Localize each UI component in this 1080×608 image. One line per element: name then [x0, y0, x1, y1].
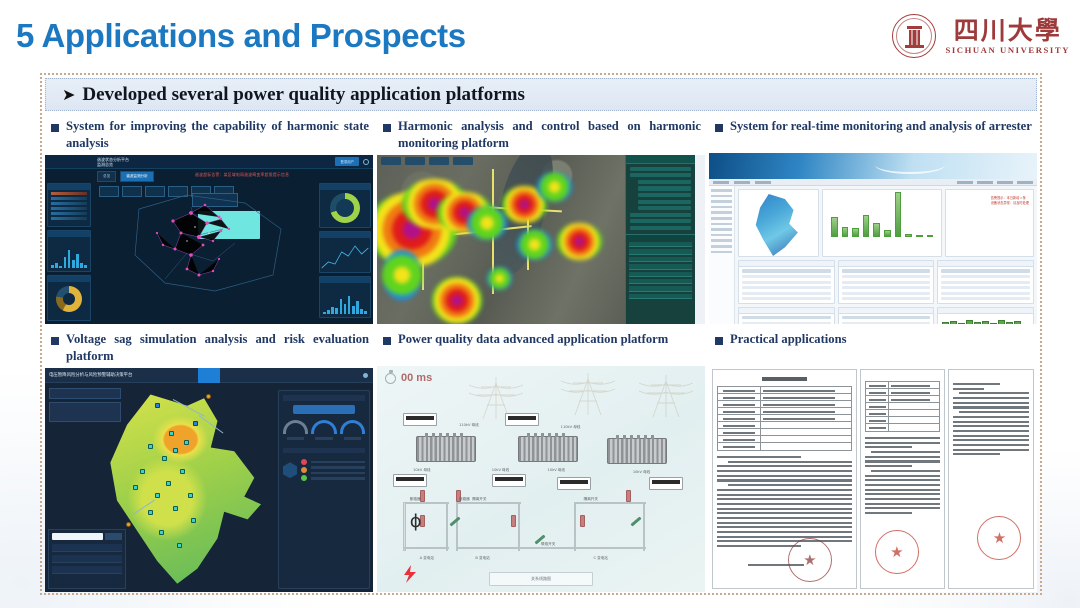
- card-header: [320, 184, 370, 190]
- search-button[interactable]: [105, 533, 122, 540]
- acceptance-letter-document[interactable]: [948, 369, 1034, 589]
- app-menu-bar[interactable]: [709, 179, 1037, 186]
- tree-node: [711, 223, 732, 226]
- table-row: [842, 281, 931, 284]
- content-frame: ➤ Developed several power quality applic…: [40, 73, 1042, 595]
- panel-header: [283, 395, 365, 401]
- voltage-label: 110kV 母线: [561, 425, 581, 430]
- gauge-card: [319, 183, 371, 228]
- map-marker[interactable]: [173, 506, 178, 511]
- gauge-chart: [330, 193, 360, 223]
- voltage-label: 110kV 母线: [459, 423, 479, 428]
- seal-icon: [892, 14, 936, 58]
- heat-blob: [487, 267, 512, 291]
- toolbar-button: [429, 157, 449, 165]
- line-chart-svg: [320, 238, 370, 272]
- circuit-breaker[interactable]: [626, 490, 631, 502]
- form-row: [866, 403, 940, 410]
- card-header: [48, 184, 90, 190]
- screenshot-dark-gis-dashboard[interactable]: 电压暂降风险分析与风险预警辅助决策平台: [45, 368, 373, 592]
- menu-right-group[interactable]: [957, 181, 1037, 184]
- gauge-arc: [311, 420, 336, 434]
- map-toolbar[interactable]: [381, 157, 473, 165]
- tree-node: [711, 206, 732, 209]
- tree-node: [711, 234, 732, 237]
- tree-node: [711, 228, 732, 231]
- station-label: C 变电站: [593, 556, 607, 561]
- bar-chart: [823, 190, 941, 242]
- menu-item: [713, 181, 729, 184]
- bar-chart: [51, 244, 87, 268]
- official-stamp-icon: [788, 538, 832, 582]
- table-row[interactable]: [629, 257, 692, 262]
- nav-tab-evaluation[interactable]: [252, 368, 274, 383]
- card-body: [320, 283, 370, 317]
- map-marker[interactable]: [191, 518, 196, 523]
- radar-card: [47, 275, 91, 321]
- form-row: [718, 422, 851, 429]
- logo-chinese-name: 四川大學: [945, 18, 1070, 43]
- platform-grid: System for improving the capability of h…: [45, 115, 1037, 592]
- caption-harmonic-state-analysis: System for improving the capability of h…: [45, 115, 373, 155]
- legend-item[interactable]: [630, 167, 691, 171]
- table-row: [941, 292, 1030, 295]
- circuit-breaker[interactable]: [511, 515, 516, 527]
- measurement-display: [557, 477, 591, 490]
- device-label: 隔离开关: [584, 497, 598, 502]
- list-item[interactable]: [51, 202, 87, 205]
- table-row: [941, 269, 1030, 272]
- nav-tab-monitor[interactable]: [279, 368, 301, 383]
- result-row[interactable]: [52, 544, 122, 552]
- voltage-label: 10kV 母线: [413, 468, 430, 473]
- light-column: [301, 457, 307, 483]
- gauge-label: [344, 437, 361, 440]
- bus-bar: [574, 547, 646, 549]
- bar-chart-widget[interactable]: [822, 189, 942, 257]
- map-marker[interactable]: [162, 456, 167, 461]
- measurement-display: [505, 413, 539, 426]
- timer-value: 00 ms: [401, 372, 432, 384]
- square-bullet-icon: [51, 124, 59, 132]
- tree-node: [711, 239, 732, 242]
- trend-card: [319, 231, 371, 273]
- transmission-tower-icon: [639, 373, 693, 419]
- list-item[interactable]: [51, 217, 87, 220]
- table-row: [742, 269, 831, 272]
- gauge-label: [287, 437, 304, 440]
- heat-blob: [537, 172, 572, 202]
- table-widget[interactable]: [937, 260, 1034, 304]
- legend-item[interactable]: [630, 213, 691, 217]
- table-header: [739, 308, 834, 314]
- table-row: [842, 292, 931, 295]
- status-light-red: [301, 459, 307, 465]
- table-row[interactable]: [629, 279, 692, 284]
- card-body: [48, 192, 90, 226]
- form-row: [718, 401, 851, 408]
- tab-overview[interactable]: 总览: [97, 171, 116, 182]
- right-info-panel[interactable]: [278, 390, 370, 589]
- logo-text-block: 四川大學 SICHUAN UNIVERSITY: [945, 18, 1070, 55]
- map-marker[interactable]: [155, 493, 160, 498]
- square-bullet-icon: [715, 337, 723, 345]
- tree-node: [711, 217, 732, 220]
- legend-subitem[interactable]: [638, 180, 691, 184]
- map-marker[interactable]: [188, 493, 193, 498]
- screenshot-one-line-grid-diagram[interactable]: 00 ms: [377, 366, 705, 592]
- card-body: [320, 238, 370, 272]
- table-widget[interactable]: [738, 307, 835, 324]
- gauge-row: [283, 420, 365, 440]
- square-bullet-icon: [383, 124, 391, 132]
- table-row: [941, 281, 1030, 284]
- histogram-card: [319, 276, 371, 318]
- map-marker[interactable]: [184, 440, 189, 445]
- middle-tables-row: [738, 260, 1034, 304]
- measurement-display: [492, 474, 526, 487]
- green-bar-chart-widget[interactable]: [937, 307, 1034, 324]
- tree-node: [711, 200, 732, 203]
- logo-english-name: SICHUAN UNIVERSITY: [945, 46, 1070, 55]
- table-row: [742, 292, 831, 295]
- header-swoosh-decoration: [875, 156, 945, 174]
- result-row[interactable]: [52, 566, 122, 574]
- table-row[interactable]: [629, 272, 692, 277]
- list-item[interactable]: [51, 207, 87, 210]
- user-avatar-icon[interactable]: [363, 373, 368, 378]
- alarm-list-card: [47, 183, 91, 227]
- legend-header: [626, 155, 695, 164]
- bar-chart: [938, 314, 1033, 324]
- caption-voltage-sag-platform: Voltage sag simulation analysis and risk…: [45, 328, 373, 368]
- cell-arrester-monitoring: System for real-time monitoring and anal…: [709, 115, 1037, 324]
- circuit-breaker[interactable]: [580, 515, 585, 527]
- table-header: [839, 261, 934, 267]
- status-light-group: [283, 457, 365, 483]
- card-body: [48, 286, 90, 320]
- device-label: 联络开关: [541, 542, 555, 547]
- table-row[interactable]: [629, 294, 692, 299]
- document-title-bar: [762, 377, 808, 381]
- table-row[interactable]: [629, 264, 692, 269]
- app-brand-title: 电压暂降风险分析与风险预警辅助决策平台: [49, 372, 132, 378]
- bus-bar: [518, 502, 520, 552]
- card-body: [320, 193, 370, 227]
- form-row: [866, 396, 940, 403]
- table-row: [941, 275, 1030, 278]
- caption-arrester-monitoring: System for real-time monitoring and anal…: [709, 115, 1037, 153]
- table-row: [742, 297, 831, 300]
- official-stamp-icon: [977, 516, 1021, 560]
- cell-practical-applications: Practical applications: [709, 328, 1037, 592]
- form-row: [866, 417, 940, 424]
- diagram-caption-box: 关系线路图: [489, 572, 594, 586]
- toolbar-button: [405, 157, 425, 165]
- voltage-label: 10kV 母线: [492, 468, 509, 473]
- table-row: [941, 297, 1030, 300]
- bar-chart-card: [47, 230, 91, 272]
- panel-subheader: [283, 448, 365, 453]
- menu-item: [977, 181, 993, 184]
- histogram-chart: [323, 290, 367, 314]
- heat-blob: [382, 250, 422, 301]
- table-header: [739, 261, 834, 267]
- form-row: [718, 408, 851, 415]
- list-item[interactable]: [51, 197, 87, 200]
- card-header: [48, 276, 90, 282]
- table-row: [842, 297, 931, 300]
- cell-power-quality-advanced-platform: Power quality data advanced application …: [377, 328, 705, 592]
- map-marker[interactable]: [148, 444, 153, 449]
- voltage-label: 10kV 母线: [548, 468, 565, 473]
- dashboard-tabs[interactable]: 总览 谐波监测分析: [97, 171, 154, 182]
- toolbar-button: [381, 157, 401, 165]
- form-row: [718, 415, 851, 422]
- gauge-arc: [340, 420, 365, 434]
- gear-icon[interactable]: [363, 159, 369, 165]
- table-row: [742, 316, 831, 319]
- donut-chart: [56, 286, 82, 312]
- table-row: [742, 322, 831, 324]
- primary-action-button[interactable]: [293, 405, 355, 414]
- document-form-table: [865, 381, 941, 432]
- gauge-widget: [311, 420, 336, 440]
- application-certificate-document[interactable]: [712, 369, 857, 589]
- test-report-document[interactable]: [860, 369, 946, 589]
- region-map-widget[interactable]: [738, 189, 819, 257]
- menu-item: [997, 181, 1013, 184]
- map-marker[interactable]: [140, 469, 145, 474]
- cell-voltage-sag-platform: Voltage sag simulation analysis and risk…: [45, 328, 373, 592]
- official-stamp-icon: [875, 530, 919, 574]
- table-widget[interactable]: [738, 260, 835, 304]
- square-bullet-icon: [715, 124, 723, 132]
- table-row: [742, 281, 831, 284]
- menu-item: [1017, 181, 1033, 184]
- form-row: [718, 436, 851, 443]
- table-row[interactable]: [629, 286, 692, 291]
- tree-node: [711, 251, 732, 254]
- stopwatch-icon: [385, 373, 396, 384]
- map-marker[interactable]: [133, 485, 138, 490]
- toolbar-button: [453, 157, 473, 165]
- station-label: A 变电站: [420, 556, 434, 561]
- form-row: [866, 410, 940, 417]
- status-table: [311, 458, 365, 483]
- arrow-bullet-icon: ➤: [62, 87, 75, 103]
- table-row: [842, 275, 931, 278]
- status-light-green: [301, 475, 307, 481]
- caption-practical-applications: Practical applications: [709, 328, 1037, 366]
- gauge-widget: [340, 420, 365, 440]
- data-table-header: [626, 234, 695, 240]
- nav-tab-active[interactable]: [198, 368, 220, 383]
- table-row[interactable]: [629, 249, 692, 254]
- tree-node: [711, 245, 732, 248]
- gate-tower-icon: [907, 26, 922, 47]
- table-row: [742, 286, 831, 289]
- screenshot-light-web-dashboard[interactable]: 告警提示：本日新增 2 条设备状态异常：请及时处理: [709, 153, 1037, 324]
- screenshot-dark-network-dashboard[interactable]: 谐波状态分析平台监测总览 登录用户 总览 谐波监测分析 谐波超标告警：某区域电网…: [45, 155, 373, 324]
- caption-text: Voltage sag simulation analysis and risk…: [66, 331, 369, 364]
- heat-blob: [517, 229, 552, 259]
- legend-item[interactable]: [630, 226, 691, 230]
- device-label: 隔离开关: [472, 497, 486, 502]
- page-title: 5 Applications and Prospects: [16, 17, 466, 55]
- square-bullet-icon: [51, 337, 59, 345]
- simulation-timer: 00 ms: [385, 372, 432, 384]
- caption-text: Practical applications: [730, 331, 846, 348]
- map-marker[interactable]: [206, 394, 211, 399]
- transformer-icon: [416, 436, 476, 462]
- transformer-icon: [607, 438, 667, 464]
- university-logo: 四川大學 SICHUAN UNIVERSITY: [892, 14, 1070, 58]
- diagram-caption-text: 关系线路图: [490, 573, 593, 585]
- search-input[interactable]: [52, 533, 103, 540]
- nav-tab-report[interactable]: [306, 368, 328, 383]
- heat-blob: [557, 223, 602, 260]
- nav-tab-analysis[interactable]: [225, 368, 247, 383]
- menu-item: [755, 181, 771, 184]
- result-row[interactable]: [52, 555, 122, 563]
- table-widget[interactable]: [838, 307, 935, 324]
- station-label: B 变电站: [475, 556, 489, 561]
- caption-text: Power quality data advanced application …: [398, 331, 668, 348]
- bus-bar: [456, 502, 458, 552]
- bus-bar: [446, 502, 448, 552]
- table-row: [742, 275, 831, 278]
- legend-item[interactable]: [630, 219, 691, 223]
- measurement-display: [403, 413, 437, 426]
- map-marker[interactable]: [193, 421, 198, 426]
- nav-tab-settings[interactable]: [333, 368, 355, 383]
- network-graph-svg: [95, 183, 315, 303]
- section-banner-text: Developed several power quality applicat…: [82, 84, 524, 106]
- form-row: [866, 424, 940, 431]
- table-header: [839, 308, 934, 314]
- table-widget[interactable]: [838, 260, 935, 304]
- tab-harmonic-detail[interactable]: 谐波监测分析: [120, 171, 154, 182]
- nav-tab-home[interactable]: [171, 368, 193, 383]
- map-marker[interactable]: [173, 448, 178, 453]
- map-marker[interactable]: [177, 543, 182, 548]
- menu-item: [734, 181, 750, 184]
- table-row: [842, 269, 931, 272]
- measurement-display: [649, 477, 683, 490]
- voltage-label: 10kV 母线: [633, 470, 650, 475]
- satellite-imagery[interactable]: [377, 155, 627, 324]
- heat-blob: [432, 277, 482, 324]
- list-item[interactable]: [51, 212, 87, 215]
- user-pill[interactable]: 登录用户: [335, 157, 359, 166]
- notice-widget[interactable]: 告警提示：本日新增 2 条设备状态异常：请及时处理: [945, 189, 1034, 257]
- app-nav-bar[interactable]: 电压暂降风险分析与风险预警辅助决策平台: [45, 368, 373, 383]
- legend-subitem[interactable]: [638, 200, 691, 204]
- search-result-panel[interactable]: [48, 529, 126, 589]
- alert-headline: 谐波超标告警：某区域电网谐波畸变率超限提示信息: [195, 173, 289, 178]
- bus-bar: [643, 502, 645, 552]
- region-map: [751, 194, 805, 256]
- table-row: [842, 316, 931, 319]
- form-row: [718, 429, 851, 436]
- map-marker[interactable]: [148, 510, 153, 515]
- network-map-area[interactable]: [95, 183, 315, 324]
- topbar-actions[interactable]: 登录用户: [335, 157, 369, 166]
- hex-badge-icon: [283, 462, 297, 478]
- status-light-orange: [301, 467, 307, 473]
- document-form-table: [717, 386, 852, 451]
- form-row: [718, 443, 851, 450]
- caption-text: Harmonic analysis and control based on h…: [398, 118, 701, 151]
- table-row: [842, 286, 931, 289]
- form-row: [866, 382, 940, 389]
- tree-node: [711, 195, 732, 198]
- list-item[interactable]: [51, 192, 87, 195]
- legend-subitem[interactable]: [638, 186, 691, 190]
- menu-item: [957, 181, 973, 184]
- left-tree-nav[interactable]: [709, 186, 735, 324]
- transmission-tower-icon: [561, 371, 615, 417]
- legend-subitem[interactable]: [638, 206, 691, 210]
- form-row: [718, 394, 851, 401]
- device-label: 断路器: [410, 497, 421, 502]
- map-marker[interactable]: [180, 469, 185, 474]
- map-marker[interactable]: [166, 481, 171, 486]
- square-bullet-icon: [383, 337, 391, 345]
- measurement-display: [393, 474, 427, 487]
- document-row: [709, 366, 1037, 592]
- dashboard-topbar: 谐波状态分析平台监测总览 登录用户: [45, 155, 373, 169]
- map-marker[interactable]: [159, 530, 164, 535]
- caption-harmonic-monitoring-platform: Harmonic analysis and control based on h…: [377, 115, 705, 155]
- bus-bar: [403, 502, 405, 552]
- card-body: [48, 237, 90, 271]
- screenshot-satellite-heatmap[interactable]: [377, 155, 705, 324]
- legend-subitem[interactable]: [638, 193, 691, 197]
- table-row: [941, 286, 1030, 289]
- top-widgets-row: 告警提示：本日新增 2 条设备状态异常：请及时处理: [738, 189, 1034, 257]
- gauge-arc: [283, 420, 308, 434]
- document-paragraph: [953, 383, 1029, 455]
- legend-item[interactable]: [630, 173, 691, 177]
- disconnect-switch[interactable]: [630, 516, 641, 526]
- sensitive-load-icon: ɸ: [410, 511, 422, 532]
- cell-harmonic-state-analysis: System for improving the capability of h…: [45, 115, 373, 324]
- slide-root: 5 Applications and Prospects 四川大學 SICHUA…: [0, 0, 1080, 608]
- bus-bar: [456, 547, 522, 549]
- document-paragraph: [717, 456, 852, 547]
- table-row[interactable]: [629, 242, 692, 247]
- map-marker[interactable]: [126, 522, 131, 527]
- transformer-icon: [518, 436, 578, 462]
- dashboard-title-text: 谐波状态分析平台监测总览: [97, 157, 129, 167]
- gauge-label: [315, 437, 332, 440]
- left-panel: [45, 183, 93, 324]
- device-label: 断路器: [459, 497, 470, 502]
- table-header: [938, 261, 1033, 267]
- form-row: [718, 387, 851, 394]
- notice-text: 告警提示：本日新增 2 条设备状态异常：请及时处理: [991, 196, 1029, 207]
- caption-text: System for real-time monitoring and anal…: [730, 118, 1032, 135]
- screenshot-scanned-documents[interactable]: [709, 366, 1037, 592]
- app-body: 告警提示：本日新增 2 条设备状态异常：请及时处理: [709, 186, 1037, 324]
- bottom-widgets-row: [738, 307, 1034, 324]
- bus-bar: [574, 502, 576, 552]
- tree-node: [711, 211, 732, 214]
- layer-legend-panel[interactable]: [625, 155, 695, 324]
- map-marker[interactable]: [155, 403, 160, 408]
